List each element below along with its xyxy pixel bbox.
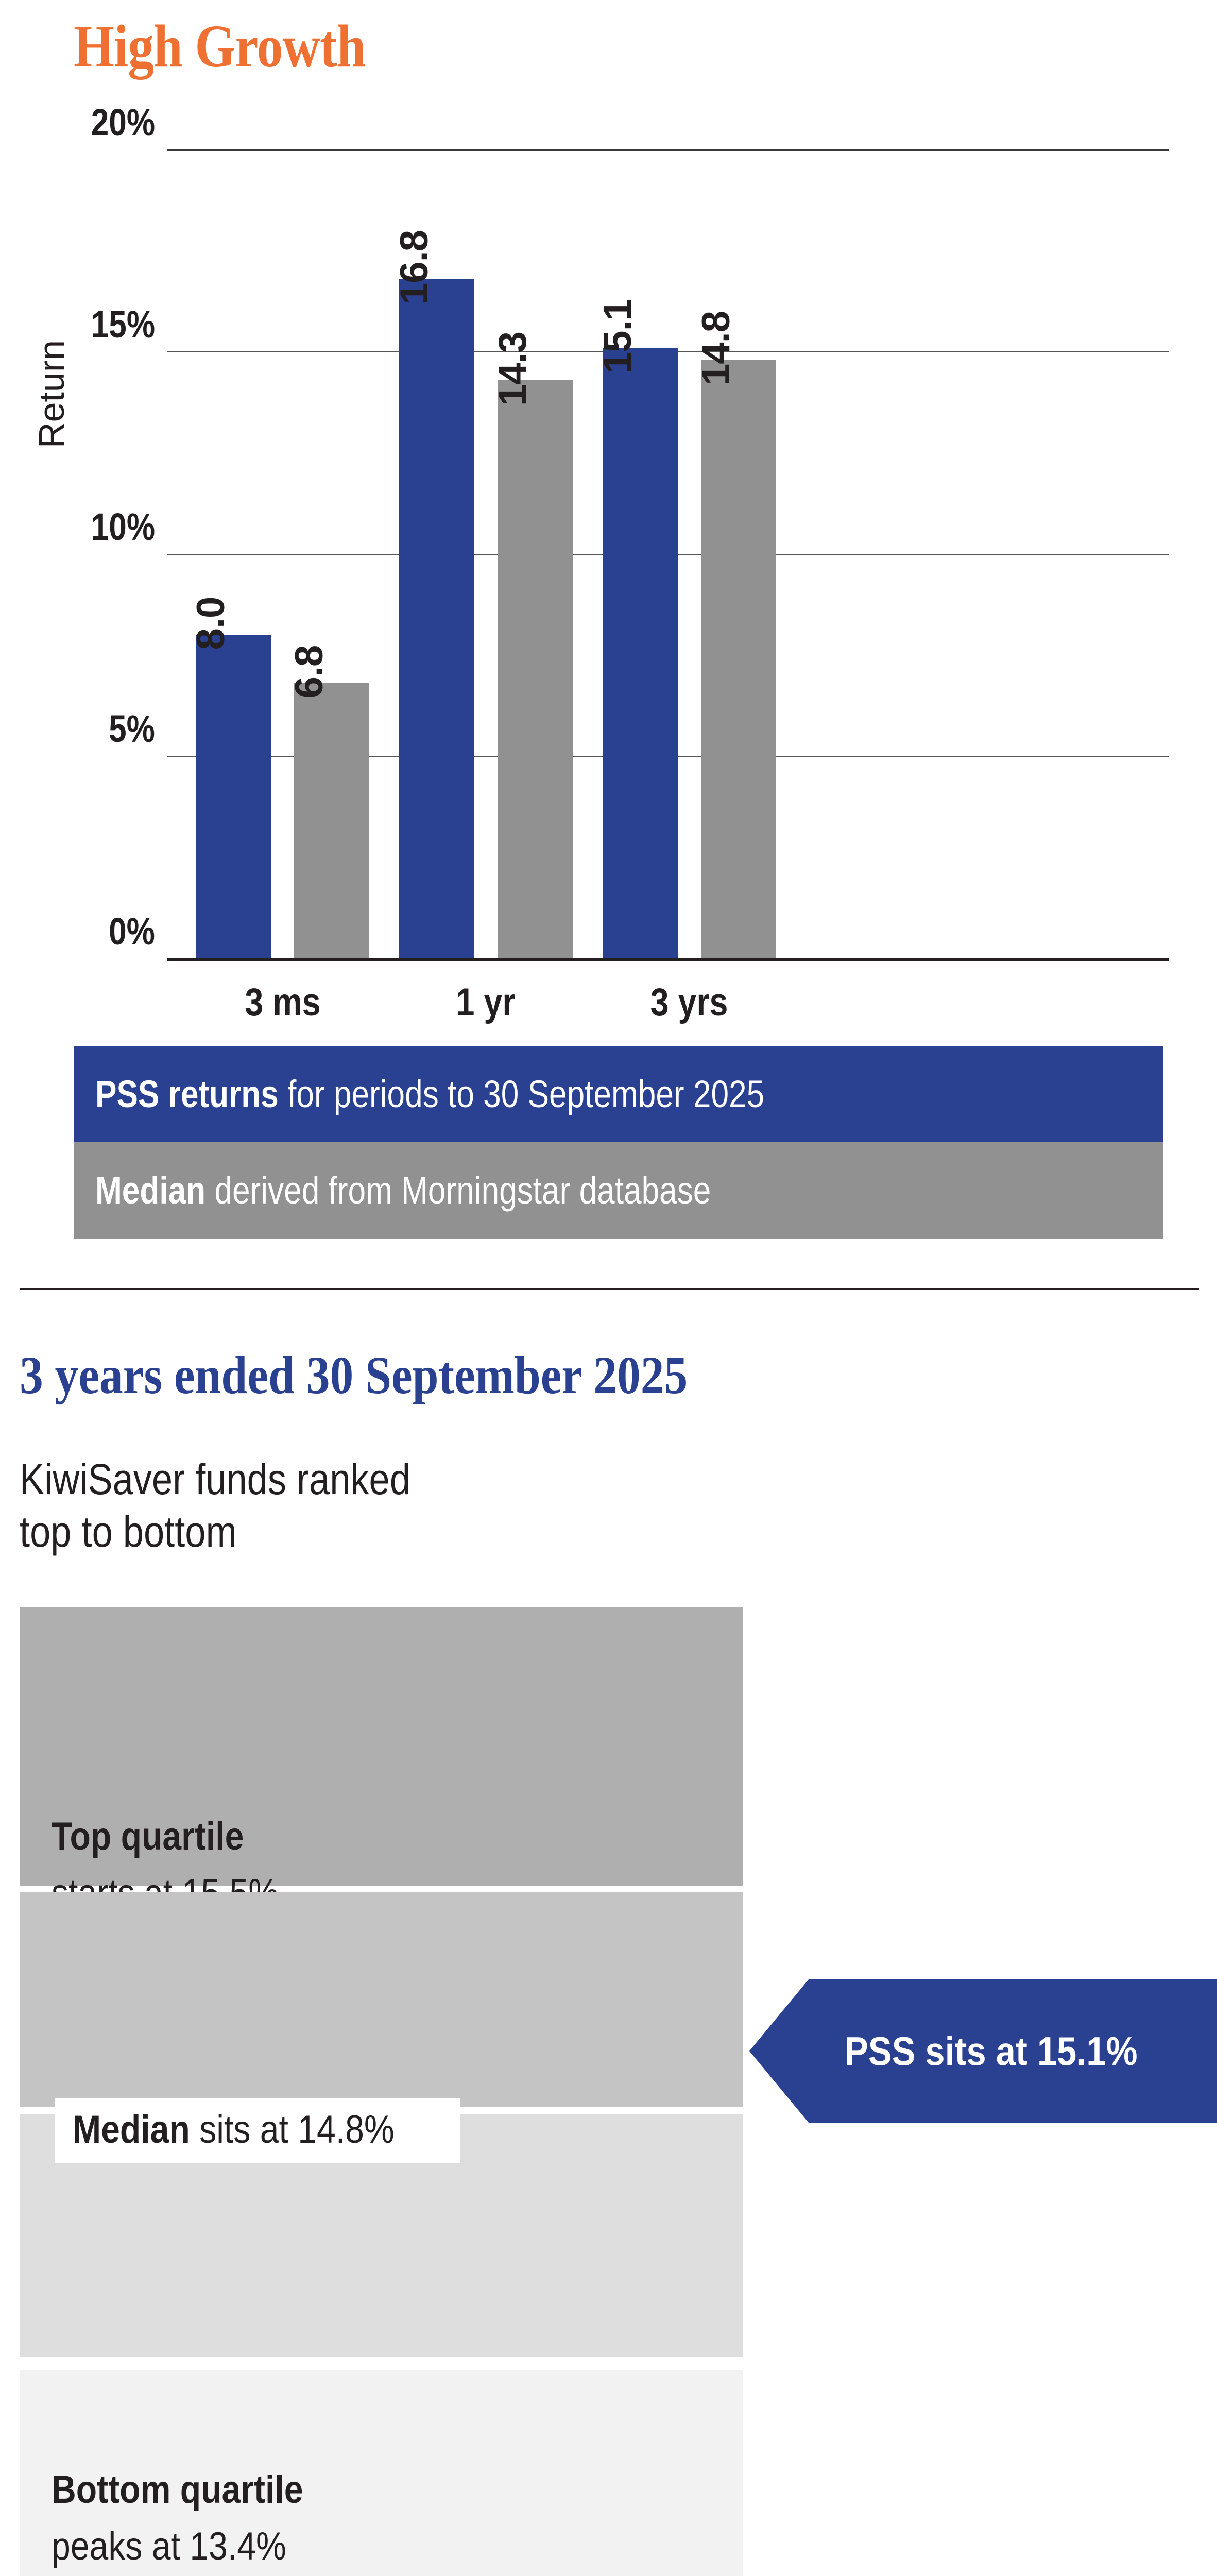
quartile-block-bottom: Bottom quartilepeaks at 13.4% (20, 2370, 743, 2576)
legend-median-rest: derived from Morningstar database (214, 1169, 711, 1212)
x-tick-3ms: 3 ms (238, 980, 327, 1025)
bar-chart: 20% 15% 10% 5% 0% 8.0 6.8 16.8 14.3 15.1… (167, 149, 1169, 958)
y-tick-15: 15% (79, 302, 155, 346)
legend-pss-lead: PSS returns (95, 1073, 287, 1115)
quartile-block-top: Top quartilestarts at 15.5% (20, 1607, 743, 1886)
quartile-top-label: Top quartile (52, 1815, 244, 1858)
y-tick-10: 10% (79, 505, 155, 549)
chart-legend: PSS returnsfor periods to 30 September 2… (74, 1046, 1163, 1239)
quartile-block-second (20, 1892, 743, 2107)
bar-pss-3ms: 8.0 (196, 635, 271, 958)
legend-row-median: Medianderived from Morningstar database (74, 1142, 1163, 1239)
quartile-subheading: KiwiSaver funds ranked top to bottom (20, 1453, 410, 1558)
bar-pss-1yr: 16.8 (399, 279, 474, 958)
quartile-bottom-value: peaks at 13.4% (52, 2524, 286, 2568)
median-tag-label: Median (73, 2108, 190, 2151)
pss-callout-label: PSS sits at 15.1% (845, 2028, 1137, 2075)
bar-median-1yr: 14.3 (498, 380, 573, 958)
quartile-heading: 3 years ended 30 September 2025 (20, 1345, 688, 1406)
pss-callout-arrow: PSS sits at 15.1% (749, 1979, 1217, 2123)
bar-pss-3yrs: 15.1 (603, 348, 678, 958)
quartile-bottom-label: Bottom quartile (52, 2468, 303, 2512)
x-tick-3yrs: 3 yrs (643, 980, 735, 1025)
section-divider-top (20, 1288, 1199, 1290)
quartile-bottom-text: Bottom quartilepeaks at 13.4% (52, 2405, 341, 2575)
x-tick-1yr: 1 yr (451, 980, 520, 1025)
legend-median-lead: Median (95, 1169, 214, 1212)
legend-pss-rest: for periods to 30 September 2025 (287, 1073, 764, 1115)
infographic-page: High Growth 20% 15% 10% 5% 0% 8.0 6.8 16… (0, 0, 1217, 2576)
gridline-20 (167, 149, 1169, 151)
axis-baseline (167, 958, 1169, 961)
y-tick-0: 0% (100, 909, 155, 953)
median-tag-value: sits at 14.8% (199, 2108, 395, 2151)
y-tick-5: 5% (100, 707, 155, 751)
median-marker-tag: Median sits at 14.8% (55, 2098, 460, 2163)
y-axis-label: Return (31, 340, 72, 448)
page-title: High Growth (74, 11, 366, 81)
bar-median-3ms: 6.8 (294, 683, 369, 958)
bar-median-3yrs: 14.8 (701, 360, 776, 958)
y-tick-20: 20% (79, 100, 155, 144)
legend-row-pss: PSS returnsfor periods to 30 September 2… (74, 1046, 1163, 1142)
